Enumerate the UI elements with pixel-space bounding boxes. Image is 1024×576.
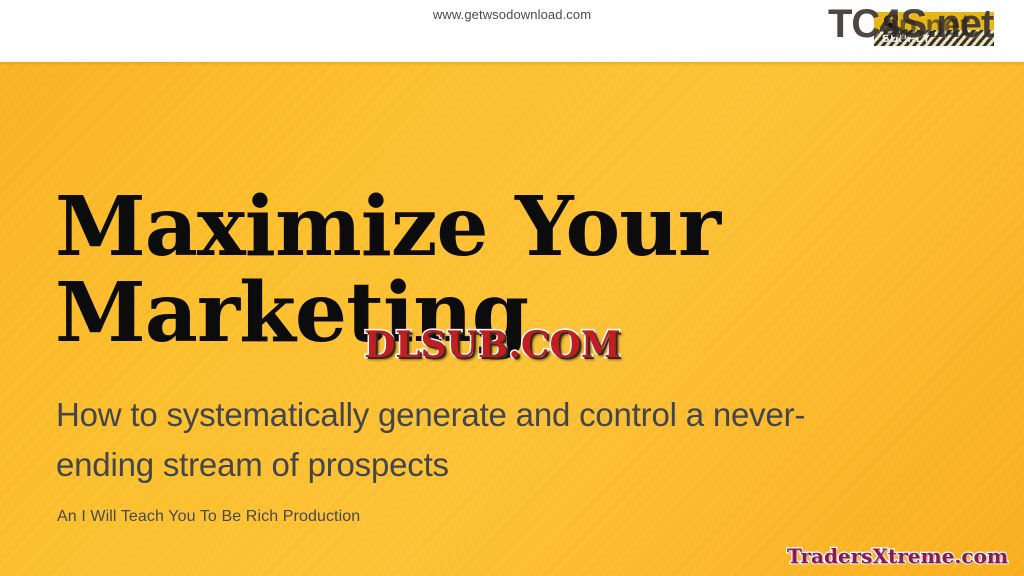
slide-credit-line: An I Will Teach You To Be Rich Productio… (57, 507, 360, 527)
tradersxtreme-watermark: TradersXtreme.com (787, 544, 1008, 568)
presentation-slide: Maximize Your Marketing How to systemati… (0, 0, 1024, 576)
logo-overlay-text: sp.net (882, 9, 970, 43)
background-top-edge (0, 62, 1024, 66)
slide-background: Maximize Your Marketing How to systemati… (0, 62, 1024, 576)
dlsub-watermark: DLSUB.COM (364, 324, 621, 366)
slide-subtitle: How to systematically generate and contr… (56, 390, 886, 490)
tc4s-net-logo[interactable]: S SUPPLY TC4S.net sp.net (822, 0, 1022, 58)
